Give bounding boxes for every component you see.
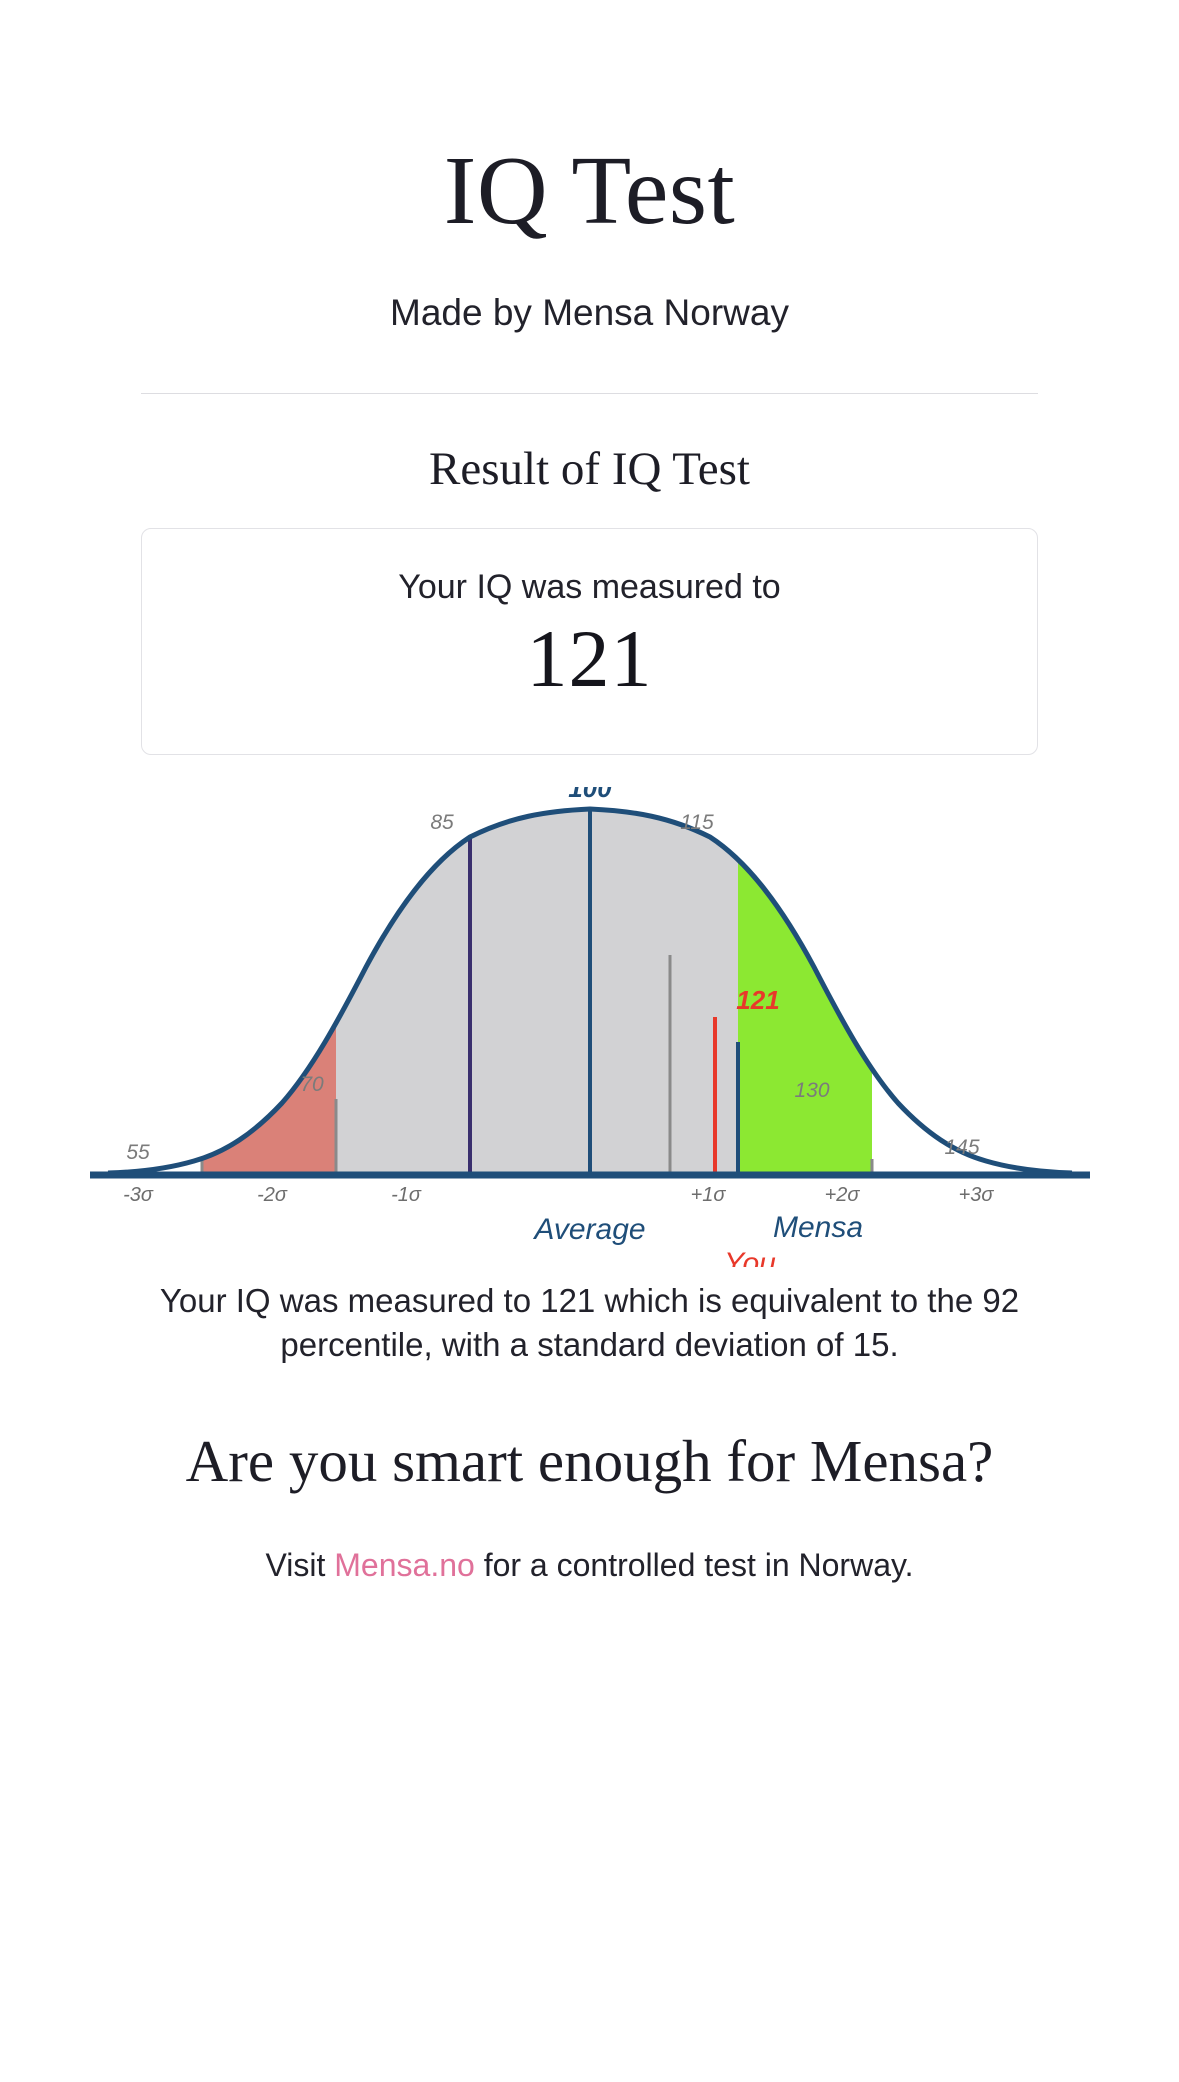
result-card-score: 121 [527,608,653,702]
axis-tick-+3sigma: +3σ [958,1184,994,1206]
bell-curve-chart: 55 70 85 100 115 121 130 145 -3σ -2σ -1σ… [90,787,1090,1267]
axis-tick--1sigma: -1σ [391,1184,422,1206]
axis-tick--2sigma: -2σ [257,1184,288,1206]
page-title: IQ Test [444,0,736,240]
annotation-mensa: Mensa [772,1211,862,1244]
footer-suffix: for a controlled test in Norway. [475,1547,914,1583]
bell-curve-svg: 55 70 85 100 115 121 130 145 -3σ -2σ -1σ… [90,787,1090,1267]
curve-label-85: 85 [430,811,454,834]
axis-tick--3sigma: -3σ [123,1184,154,1206]
curve-label-130: 130 [794,1079,829,1102]
curve-label-100: 100 [568,787,612,803]
iq-result-page: IQ Test Made by Mensa Norway Result of I… [0,0,1179,2082]
mensa-no-link[interactable]: Mensa.no [334,1547,475,1583]
axis-tick-+2sigma: +2σ [824,1184,860,1206]
cta-heading: Are you smart enough for Mensa? [160,1368,1020,1497]
curve-label-115: 115 [680,811,714,834]
footer-line: Visit Mensa.no for a controlled test in … [266,1497,914,1584]
curve-label-145: 145 [944,1136,979,1159]
result-description: Your IQ was measured to 121 which is equ… [150,1267,1030,1368]
axis-tick-+1sigma: +1σ [690,1184,726,1206]
curve-label-121: 121 [736,985,779,1015]
page-subtitle: Made by Mensa Norway [390,240,789,334]
curve-label-55: 55 [126,1141,150,1164]
footer-prefix: Visit [266,1547,335,1583]
curve-label-70: 70 [300,1073,324,1096]
result-section-heading: Result of IQ Test [429,394,750,496]
annotation-average: Average [532,1213,645,1246]
annotation-you: You [724,1247,776,1267]
result-card: Your IQ was measured to 121 [141,528,1038,755]
result-card-label: Your IQ was measured to [398,567,780,608]
